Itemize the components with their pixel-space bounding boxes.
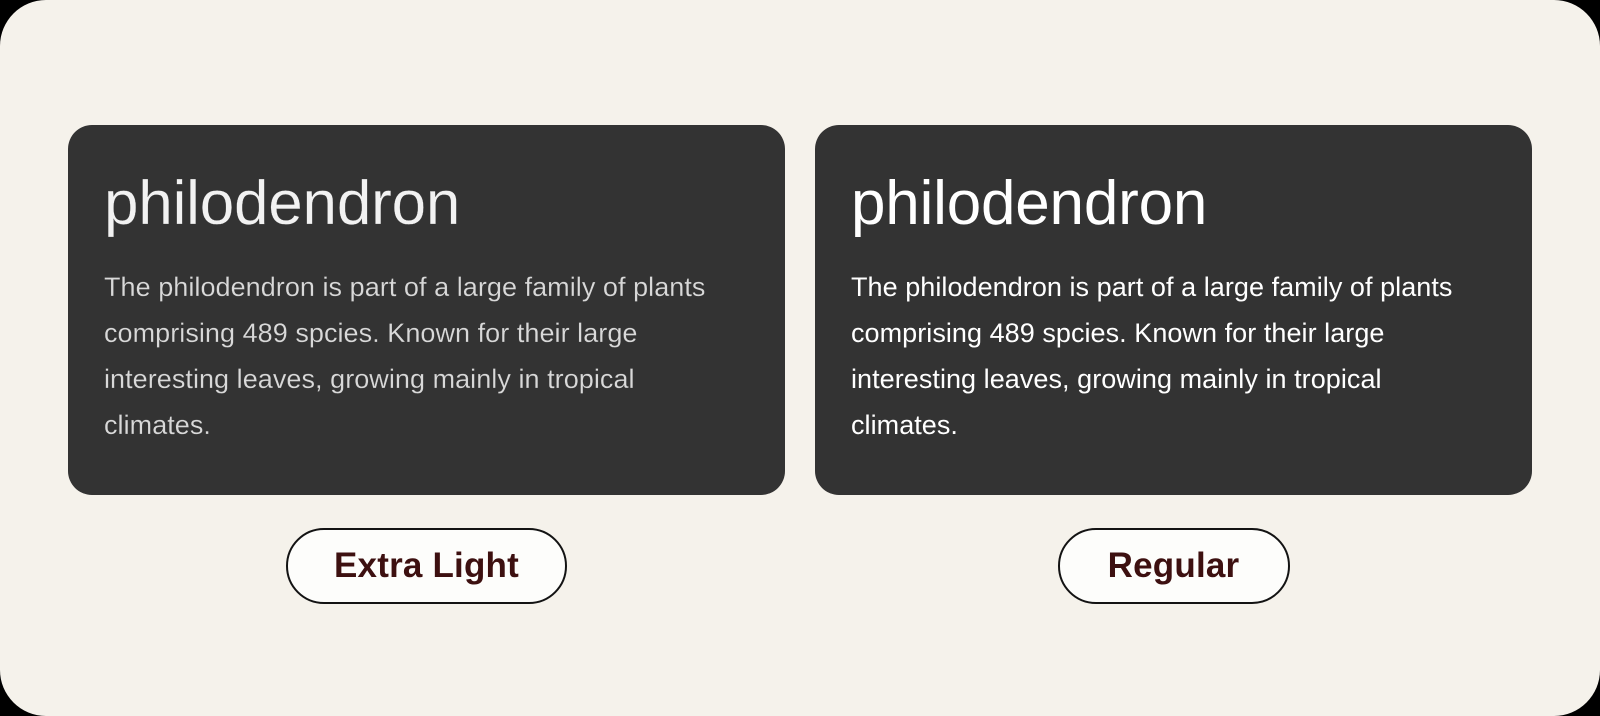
specimen-heading: philodendron xyxy=(104,169,749,238)
specimen-card-regular: philodendron The philodendron is part of… xyxy=(815,125,1532,495)
specimen-heading: philodendron xyxy=(851,169,1496,238)
specimen-card-extra-light: philodendron The philodendron is part of… xyxy=(68,125,785,495)
specimen-column-extra-light: philodendron The philodendron is part of… xyxy=(68,125,785,604)
specimen-column-regular: philodendron The philodendron is part of… xyxy=(815,125,1532,604)
specimen-body-text: The philodendron is part of a large fami… xyxy=(851,264,1496,448)
weight-label-button-extra-light[interactable]: Extra Light xyxy=(286,528,567,604)
page-panel: philodendron The philodendron is part of… xyxy=(0,0,1600,716)
weight-label-button-regular[interactable]: Regular xyxy=(1058,528,1290,604)
font-weight-comparison-grid: philodendron The philodendron is part of… xyxy=(68,125,1532,604)
specimen-body-text: The philodendron is part of a large fami… xyxy=(104,264,749,448)
